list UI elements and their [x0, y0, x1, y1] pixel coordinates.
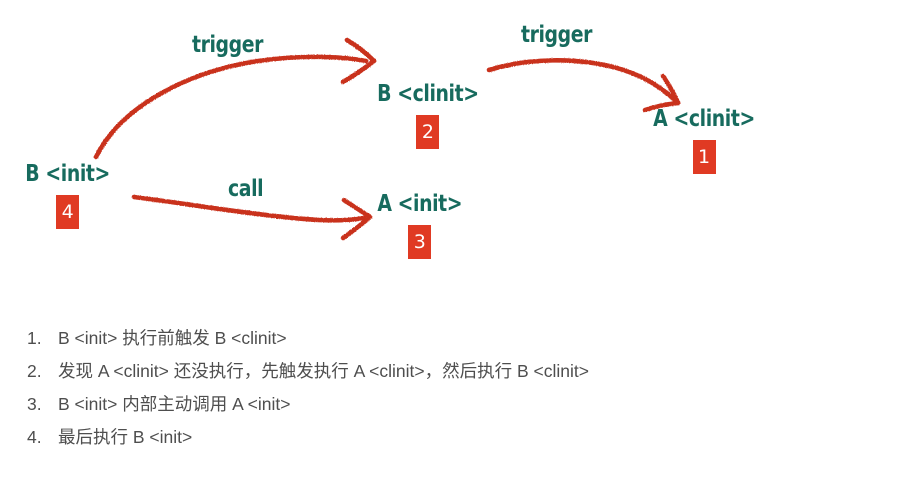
class-init-sequence-diagram: B <init> 4 B <clinit> 2 A <clinit> 1 A <… [0, 0, 908, 300]
list-item-text: 最后执行 B <init> [58, 421, 192, 454]
list-item-text: B <init> 执行前触发 B <clinit> [58, 322, 287, 355]
node-b-init: B <init> 4 [16, 162, 119, 229]
node-b-clinit: B <clinit> 2 [366, 82, 490, 149]
node-b-init-badge: 4 [56, 195, 79, 229]
edge-label-trigger-1: trigger [192, 32, 263, 58]
node-a-clinit: A <clinit> 1 [642, 107, 766, 174]
node-b-clinit-label: B <clinit> [377, 82, 478, 106]
edge-label-trigger-2: trigger [521, 22, 592, 48]
arrow-call [134, 197, 370, 238]
node-b-init-label: B <init> [25, 162, 110, 186]
node-a-init: A <init> 3 [368, 192, 472, 259]
node-a-init-badge: 3 [408, 225, 431, 259]
list-item: 4. 最后执行 B <init> [0, 421, 908, 454]
list-item-number: 4. [27, 421, 58, 454]
list-item-text: B <init> 内部主动调用 A <init> [58, 388, 290, 421]
edge-label-call: call [228, 176, 263, 202]
node-a-init-label: A <init> [377, 192, 462, 216]
list-item-number: 2. [27, 355, 58, 388]
list-item: 3. B <init> 内部主动调用 A <init> [0, 388, 908, 421]
list-item-number: 3. [27, 388, 58, 421]
node-b-clinit-badge: 2 [416, 115, 439, 149]
list-item-number: 1. [27, 322, 58, 355]
notes-list: 1. B <init> 执行前触发 B <clinit> 2. 发现 A <cl… [0, 300, 908, 482]
diagram-page: B <init> 4 B <clinit> 2 A <clinit> 1 A <… [0, 0, 908, 482]
list-item: 1. B <init> 执行前触发 B <clinit> [0, 322, 908, 355]
node-a-clinit-label: A <clinit> [653, 107, 755, 131]
list-item: 2. 发现 A <clinit> 还没执行，先触发执行 A <clinit>，然… [0, 355, 908, 388]
arrow-trigger-2 [489, 60, 678, 110]
node-a-clinit-badge: 1 [693, 140, 716, 174]
list-item-text: 发现 A <clinit> 还没执行，先触发执行 A <clinit>，然后执行… [58, 355, 589, 388]
